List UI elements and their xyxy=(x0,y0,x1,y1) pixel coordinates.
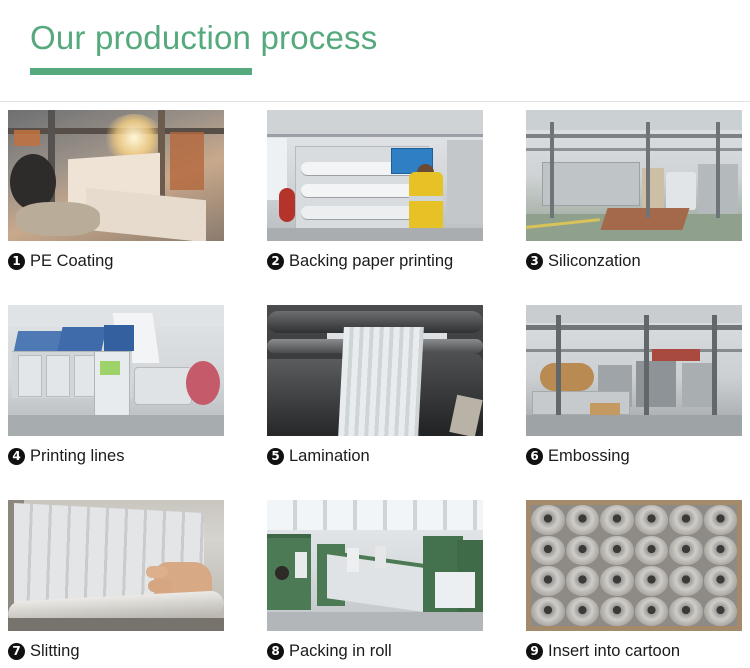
process-step-card[interactable]: 2 Backing paper printing xyxy=(267,110,483,278)
process-step-caption: 2 Backing paper printing xyxy=(267,241,483,278)
process-step-photo xyxy=(267,500,483,631)
process-step-card[interactable]: 4 Printing lines xyxy=(8,305,224,473)
process-step-caption: 6 Embossing xyxy=(526,436,742,473)
process-step-caption: 9 Insert into cartoon xyxy=(526,631,742,668)
step-number-badge: 2 xyxy=(267,253,284,270)
page-title: Our production process xyxy=(30,18,750,58)
process-step-photo xyxy=(267,305,483,436)
step-number-badge: 3 xyxy=(526,253,543,270)
process-step-card[interactable]: 6 Embossing xyxy=(526,305,742,473)
process-step-card[interactable]: 7 Slitting xyxy=(8,500,224,668)
process-step-photo xyxy=(8,305,224,436)
process-step-caption: 8 Packing in roll xyxy=(267,631,483,668)
process-step-caption: 5 Lamination xyxy=(267,436,483,473)
process-step-photo xyxy=(8,110,224,241)
process-step-card[interactable]: 3 Siliconzation xyxy=(526,110,742,278)
process-step-photo xyxy=(526,110,742,241)
process-step-card[interactable]: 9 Insert into cartoon xyxy=(526,500,742,668)
process-step-caption: 3 Siliconzation xyxy=(526,241,742,278)
page-header: Our production process xyxy=(0,0,750,75)
production-process-page: Our production process 1 PE Coating xyxy=(0,0,750,659)
process-step-caption: 7 Slitting xyxy=(8,631,224,668)
process-step-card[interactable]: 1 PE Coating xyxy=(8,110,224,278)
process-step-photo xyxy=(526,305,742,436)
step-label: Lamination xyxy=(289,447,370,466)
step-number-badge: 8 xyxy=(267,643,284,660)
step-number-badge: 7 xyxy=(8,643,25,660)
process-step-photo xyxy=(8,500,224,631)
process-step-photo xyxy=(526,500,742,631)
step-number-badge: 9 xyxy=(526,643,543,660)
step-label: Packing in roll xyxy=(289,642,392,661)
header-divider xyxy=(0,101,750,102)
process-step-photo xyxy=(267,110,483,241)
process-step-card[interactable]: 8 Packing in roll xyxy=(267,500,483,668)
title-underline-rule xyxy=(30,68,252,75)
step-number-badge: 6 xyxy=(526,448,543,465)
step-label: Backing paper printing xyxy=(289,252,453,271)
step-label: Insert into cartoon xyxy=(548,642,680,661)
step-number-badge: 4 xyxy=(8,448,25,465)
step-label: Embossing xyxy=(548,447,630,466)
step-label: Slitting xyxy=(30,642,80,661)
process-step-grid: 1 PE Coating 2 Backing paper printing xyxy=(8,110,742,668)
step-label: PE Coating xyxy=(30,252,113,271)
process-step-caption: 4 Printing lines xyxy=(8,436,224,473)
step-label: Siliconzation xyxy=(548,252,641,271)
step-number-badge: 5 xyxy=(267,448,284,465)
process-step-caption: 1 PE Coating xyxy=(8,241,224,278)
process-step-card[interactable]: 5 Lamination xyxy=(267,305,483,473)
step-label: Printing lines xyxy=(30,447,124,466)
step-number-badge: 1 xyxy=(8,253,25,270)
